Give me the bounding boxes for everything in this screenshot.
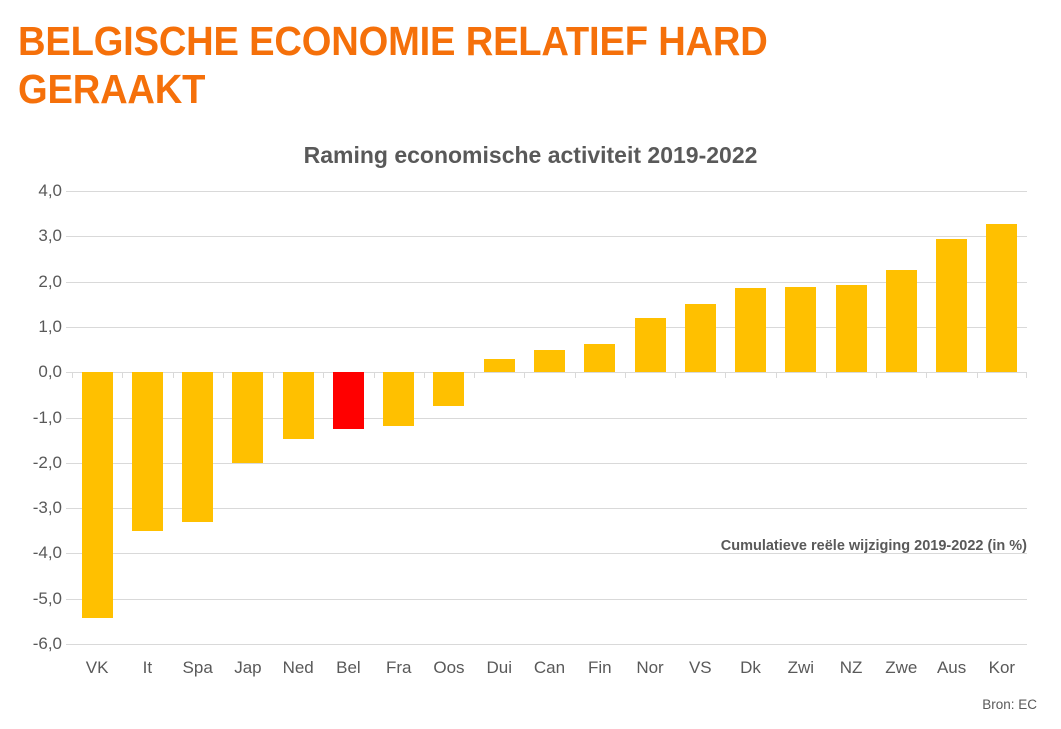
x-tickmark (424, 372, 425, 378)
chart-title: Raming economische activiteit 2019-2022 (0, 142, 1061, 169)
bar-zwe[interactable] (886, 270, 917, 372)
x-axis-label-jap: Jap (223, 658, 273, 678)
bar-it[interactable] (132, 372, 163, 531)
y-axis-label: 2,0 (0, 272, 62, 292)
x-axis-label-kor: Kor (977, 658, 1027, 678)
y-axis-label: -1,0 (0, 408, 62, 428)
bar-ned[interactable] (283, 372, 314, 439)
x-axis-label-nz: NZ (826, 658, 876, 678)
y-tickmark (66, 236, 72, 237)
y-axis-label: 1,0 (0, 317, 62, 337)
bar-oos[interactable] (433, 372, 464, 406)
bar-vs[interactable] (685, 304, 716, 372)
bar-dui[interactable] (484, 359, 515, 372)
x-tickmark (876, 372, 877, 378)
x-axis-label-bel: Bel (323, 658, 373, 678)
x-axis-label-vk: VK (72, 658, 122, 678)
bar-jap[interactable] (232, 372, 263, 463)
x-axis-label-zwi: Zwi (776, 658, 826, 678)
bar-vk[interactable] (82, 372, 113, 618)
x-tickmark (374, 372, 375, 378)
x-tickmark (826, 372, 827, 378)
headline: BELGISCHE ECONOMIE RELATIEF HARD GERAAKT (18, 18, 948, 113)
y-axis-label: 3,0 (0, 226, 62, 246)
x-axis-label-ned: Ned (273, 658, 323, 678)
gridline-neg3 (72, 508, 1027, 509)
gridline-2 (72, 282, 1027, 283)
x-tickmark (575, 372, 576, 378)
y-tickmark (66, 644, 72, 645)
bar-kor[interactable] (986, 224, 1017, 372)
x-tickmark (1026, 372, 1027, 378)
bar-fra[interactable] (383, 372, 414, 425)
bar-aus[interactable] (936, 239, 967, 372)
x-axis-label-can: Can (525, 658, 575, 678)
x-tickmark (474, 372, 475, 378)
x-axis-label-it: It (122, 658, 172, 678)
gridline-neg2 (72, 463, 1027, 464)
gridline-1 (72, 327, 1027, 328)
x-axis-label-nor: Nor (625, 658, 675, 678)
x-tickmark (173, 372, 174, 378)
y-axis-label: -5,0 (0, 589, 62, 609)
gridline-0 (72, 372, 1027, 373)
x-tickmark (72, 372, 73, 378)
x-axis-label-dk: Dk (726, 658, 776, 678)
x-tickmark (524, 372, 525, 378)
bar-nor[interactable] (635, 318, 666, 372)
x-tickmark (223, 372, 224, 378)
x-axis-label-zwe: Zwe (876, 658, 926, 678)
bar-nz[interactable] (836, 285, 867, 372)
y-axis-label: -2,0 (0, 453, 62, 473)
x-tickmark (725, 372, 726, 378)
x-tickmark (675, 372, 676, 378)
x-axis-label-fin: Fin (575, 658, 625, 678)
chart-plot-area (72, 191, 1027, 644)
y-axis-label: -6,0 (0, 634, 62, 654)
y-tickmark (66, 599, 72, 600)
y-tickmark (66, 191, 72, 192)
x-tickmark (273, 372, 274, 378)
x-tickmark (625, 372, 626, 378)
x-tickmark (776, 372, 777, 378)
gridline-3 (72, 236, 1027, 237)
chart-annotation: Cumulatieve reële wijziging 2019-2022 (i… (721, 538, 1027, 554)
bar-bel[interactable] (333, 372, 364, 429)
bar-zwi[interactable] (785, 287, 816, 372)
y-axis-label: -3,0 (0, 498, 62, 518)
x-axis-label-aus: Aus (927, 658, 977, 678)
gridline-4 (72, 191, 1027, 192)
x-axis-label-dui: Dui (474, 658, 524, 678)
bar-dk[interactable] (735, 288, 766, 372)
y-axis-label: -4,0 (0, 543, 62, 563)
x-tickmark (977, 372, 978, 378)
x-tickmark (122, 372, 123, 378)
x-axis-label-spa: Spa (173, 658, 223, 678)
bar-fin[interactable] (584, 344, 615, 373)
y-tickmark (66, 463, 72, 464)
y-tickmark (66, 327, 72, 328)
y-axis-label: 4,0 (0, 181, 62, 201)
bar-can[interactable] (534, 350, 565, 372)
gridline-neg1 (72, 418, 1027, 419)
x-tickmark (323, 372, 324, 378)
x-tickmark (926, 372, 927, 378)
x-axis-label-oos: Oos (424, 658, 474, 678)
y-tickmark (66, 418, 72, 419)
gridline-neg5 (72, 599, 1027, 600)
bar-spa[interactable] (182, 372, 213, 521)
y-tickmark (66, 508, 72, 509)
source-note: Bron: EC (982, 697, 1037, 712)
x-axis-label-fra: Fra (374, 658, 424, 678)
y-tickmark (66, 553, 72, 554)
gridline-neg6 (72, 644, 1027, 645)
y-tickmark (66, 282, 72, 283)
x-axis-label-vs: VS (675, 658, 725, 678)
y-axis-label: 0,0 (0, 362, 62, 382)
